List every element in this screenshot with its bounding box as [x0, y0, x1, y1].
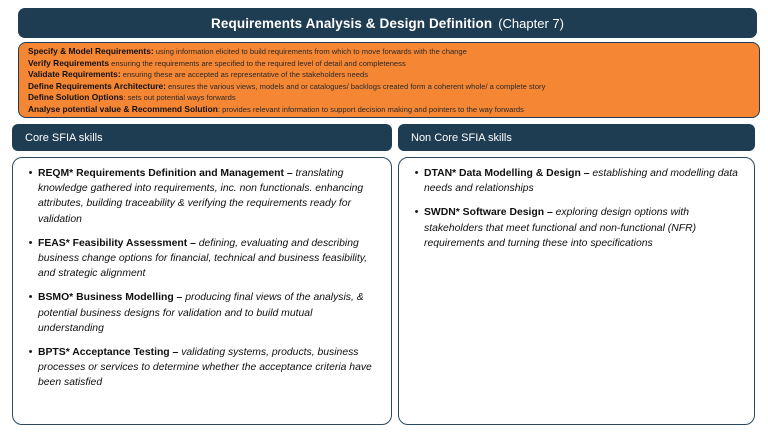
core-skill-list: •REQM* Requirements Definition and Manag… [21, 166, 381, 391]
process-line-description: : provides relevant information to suppo… [218, 105, 524, 114]
bullet-icon: • [21, 290, 38, 305]
skill-text: BPTS* Acceptance Testing – validating sy… [38, 345, 381, 391]
process-line: Define Requirements Architecture: ensure… [28, 81, 759, 93]
process-line: Verify Requirements ensuring the require… [28, 58, 759, 70]
skill-code-label: BPTS* Acceptance Testing – [38, 347, 181, 358]
skill-item: •DTAN* Data Modelling & Design – establi… [407, 166, 744, 196]
slide-title-bar: Requirements Analysis & Design Definitio… [18, 8, 757, 38]
process-line: Analyse potential value & Recommend Solu… [28, 104, 759, 116]
skill-text: BSMO* Business Modelling – producing fin… [38, 290, 381, 336]
bullet-icon: • [21, 166, 38, 181]
skill-code-label: FEAS* Feasibility Assessment – [38, 238, 199, 249]
slide-title-chapter: (Chapter 7) [498, 16, 564, 31]
skill-code-label: SWDN* Software Design – [424, 207, 556, 218]
process-line-term: Define Requirements Architecture: [28, 81, 166, 91]
noncore-skill-list: •DTAN* Data Modelling & Design – establi… [407, 166, 744, 251]
skill-code-label: DTAN* Data Modelling & Design – [424, 168, 592, 179]
bullet-icon: • [21, 236, 38, 251]
bullet-icon: • [407, 166, 424, 181]
process-line-term: Define Solution Options [28, 92, 123, 102]
process-line-description: ensuring the requirements are specified … [109, 59, 406, 68]
process-line-description: ensuring these are accepted as represent… [121, 70, 368, 79]
skill-text: SWDN* Software Design – exploring design… [424, 205, 744, 251]
skill-item: •BPTS* Acceptance Testing – validating s… [21, 345, 381, 391]
skill-item: •REQM* Requirements Definition and Manag… [21, 166, 381, 227]
bullet-icon: • [21, 345, 38, 360]
process-line: Define Solution Options: sets out potent… [28, 92, 759, 104]
skill-text: FEAS* Feasibility Assessment – defining,… [38, 236, 381, 282]
skill-code-label: BSMO* Business Modelling – [38, 292, 185, 303]
process-line-term: Analyse potential value & Recommend Solu… [28, 104, 218, 114]
process-line-description: using information elicited to build requ… [154, 47, 467, 56]
core-skills-panel: •REQM* Requirements Definition and Manag… [12, 157, 392, 425]
skill-code-label: REQM* Requirements Definition and Manage… [38, 168, 296, 179]
noncore-skills-panel: •DTAN* Data Modelling & Design – establi… [398, 157, 755, 425]
bullet-icon: • [407, 205, 424, 220]
process-line-term: Specify & Model Requirements: [28, 46, 154, 56]
noncore-skills-header-label: Non Core SFIA skills [411, 132, 512, 144]
process-line: Validate Requirements: ensuring these ar… [28, 69, 759, 81]
skill-item: •FEAS* Feasibility Assessment – defining… [21, 236, 381, 282]
slide-title-main: Requirements Analysis & Design Definitio… [211, 16, 492, 31]
process-line: Specify & Model Requirements: using info… [28, 46, 759, 58]
process-line-term: Validate Requirements: [28, 69, 121, 79]
skill-item: •BSMO* Business Modelling – producing fi… [21, 290, 381, 336]
noncore-skills-header: Non Core SFIA skills [398, 124, 755, 151]
skill-item: •SWDN* Software Design – exploring desig… [407, 205, 744, 251]
process-line-list: Specify & Model Requirements: using info… [28, 46, 759, 115]
process-activities-box: Specify & Model Requirements: using info… [18, 42, 760, 118]
core-skills-header: Core SFIA skills [12, 124, 392, 151]
process-line-description: ensures the various views, models and or… [166, 82, 545, 91]
skill-text: REQM* Requirements Definition and Manage… [38, 166, 381, 227]
core-skills-header-label: Core SFIA skills [25, 132, 103, 144]
process-line-term: Verify Requirements [28, 58, 109, 68]
process-line-description: : sets out potential ways forwards [123, 93, 235, 102]
skill-text: DTAN* Data Modelling & Design – establis… [424, 166, 744, 196]
